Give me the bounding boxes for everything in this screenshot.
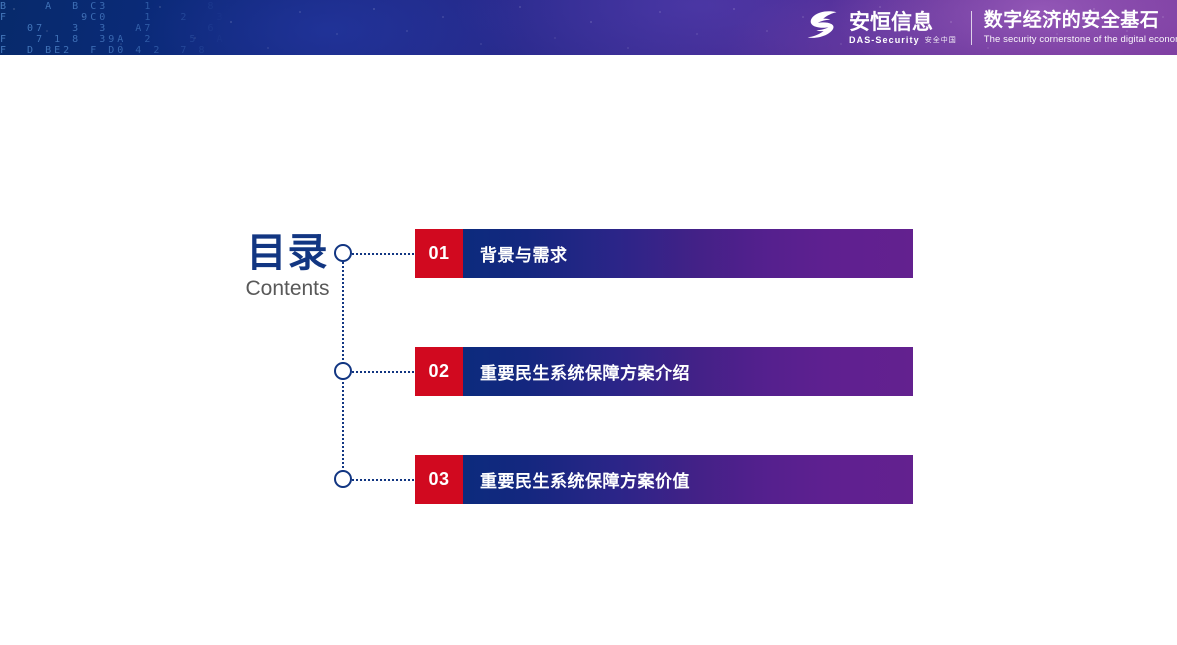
- timeline-node-2: [334, 362, 352, 380]
- brand-logo-block: 安恒信息 DAS-Security 安全中国 数字经济的安全基石 The sec…: [806, 6, 1177, 50]
- brand-subtitle: DAS-Security 安全中国: [849, 35, 957, 45]
- brand-tagline: 数字经济的安全基石 The security cornerstone of th…: [984, 10, 1177, 46]
- tagline-en: The security cornerstone of the digital …: [984, 34, 1177, 46]
- tagline-cn: 数字经济的安全基石: [984, 10, 1177, 32]
- agenda-item-2[interactable]: 02 重要民生系统保障方案介绍: [415, 347, 913, 396]
- agenda-item-1-bar[interactable]: 背景与需求: [463, 229, 913, 278]
- agenda-item-2-number: 02: [415, 347, 463, 396]
- page-title-en: Contents: [240, 276, 335, 302]
- timeline-connector-1: [352, 253, 414, 255]
- timeline-node-3: [334, 470, 352, 488]
- timeline-node-1: [334, 244, 352, 262]
- slide-header-banner: B A B C3 1 8 4 2 B F 9C0 1 2 3 B 0 07 3 …: [0, 0, 1177, 55]
- timeline-connector-2: [352, 371, 414, 373]
- brand-divider: [971, 11, 972, 45]
- page-title-cn: 目录: [240, 231, 335, 275]
- agenda-item-1[interactable]: 01 背景与需求: [415, 229, 913, 278]
- agenda-item-3-title: 重要民生系统保障方案价值: [480, 467, 690, 492]
- agenda-item-2-title: 重要民生系统保障方案介绍: [480, 359, 690, 384]
- brand-name-en: DAS-Security: [849, 35, 920, 45]
- timeline-connector-3: [352, 479, 414, 481]
- agenda-item-3-bar[interactable]: 重要民生系统保障方案价值: [463, 455, 913, 504]
- brand-name-cn: 安恒信息: [849, 11, 957, 34]
- brand-name-cn-small: 安全中国: [925, 36, 957, 45]
- das-security-swoosh-icon: [806, 9, 842, 47]
- agenda-item-1-title: 背景与需求: [480, 241, 568, 266]
- agenda-item-1-number: 01: [415, 229, 463, 278]
- agenda-item-3-number: 03: [415, 455, 463, 504]
- slide-body: 目录 Contents 01 背景与需求 02 重要民生系统保障方案介绍 03 …: [0, 55, 1177, 645]
- agenda-item-3[interactable]: 03 重要民生系统保障方案价值: [415, 455, 913, 504]
- agenda-item-2-bar[interactable]: 重要民生系统保障方案介绍: [463, 347, 913, 396]
- page-title: 目录 Contents: [240, 231, 335, 302]
- brand-wordmark: 安恒信息 DAS-Security 安全中国: [849, 11, 957, 45]
- header-hexcode-texture: B A B C3 1 8 4 2 B F 9C0 1 2 3 B 0 07 3 …: [0, 0, 230, 55]
